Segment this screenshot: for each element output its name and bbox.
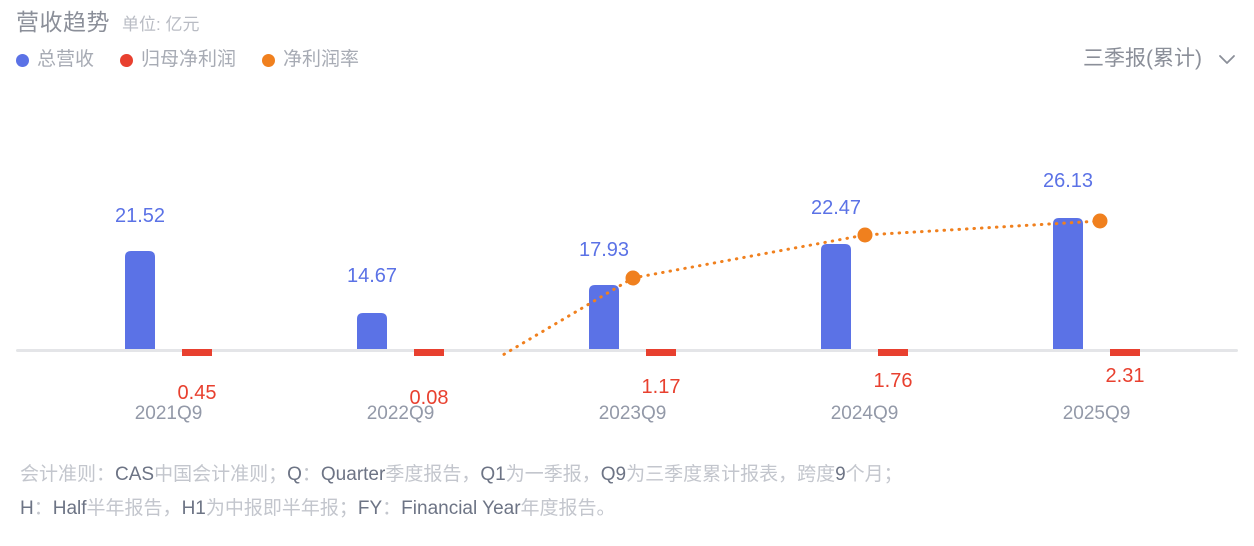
- footnote-text: 会计准则：: [20, 464, 115, 485]
- chart-plot-area: [0, 88, 1254, 356]
- footnote-line-2: H：Half半年报告，H1为中报即半年报；FY：Financial Year年度…: [20, 492, 1244, 526]
- footnote-text: 个月；: [846, 464, 903, 485]
- unit-label: 单位: 亿元: [122, 14, 199, 36]
- bar-net-profit[interactable]: [878, 349, 908, 356]
- bar-net-profit[interactable]: [414, 349, 444, 356]
- x-axis-tick-label: 2023Q9: [599, 402, 667, 426]
- legend-label: 归母净利润: [141, 48, 236, 72]
- x-axis-tick-label: 2025Q9: [1063, 402, 1131, 426]
- footnote-text: ：: [302, 464, 321, 485]
- bar-total-revenue[interactable]: [125, 251, 155, 349]
- footnote-line-1: 会计准则：CAS中国会计准则；Q：Quarter季度报告，Q1为一季报，Q9为三…: [20, 458, 1244, 492]
- footnote-text: 为中报即半年报；: [206, 498, 358, 519]
- legend-item-total-revenue[interactable]: 总营收: [16, 48, 94, 72]
- x-axis-tick-label: 2022Q9: [367, 402, 435, 426]
- legend-dot-icon: [120, 54, 133, 67]
- footnote-text: ：: [382, 498, 401, 519]
- footnote-term: Quarter: [321, 464, 385, 485]
- footnote-term: H1: [182, 498, 206, 519]
- chevron-down-icon: [1216, 48, 1238, 70]
- bar-total-revenue[interactable]: [1053, 218, 1083, 349]
- net-margin-point[interactable]: [626, 271, 641, 286]
- page-title: 营收趋势: [16, 8, 110, 36]
- footnote-text: 季度报告，: [385, 464, 480, 485]
- title-row: 营收趋势 单位: 亿元: [16, 8, 199, 36]
- net-margin-point[interactable]: [1093, 214, 1108, 229]
- value-label-total-revenue: 14.67: [347, 264, 397, 288]
- legend-item-net-margin[interactable]: 净利润率: [262, 48, 359, 72]
- net-margin-point[interactable]: [858, 228, 873, 243]
- footnote-term: CAS: [115, 464, 154, 485]
- period-selector-label: 三季报(累计): [1083, 46, 1202, 72]
- chart-canvas: [0, 88, 1254, 356]
- bar-net-profit[interactable]: [646, 349, 676, 356]
- value-label-net-profit: 2.31: [1106, 364, 1145, 388]
- footnote-text: 为三季度累计报表，跨度: [626, 464, 835, 485]
- x-axis-tick-label: 2024Q9: [831, 402, 899, 426]
- footnote-term: H: [20, 498, 34, 519]
- bar-total-revenue[interactable]: [357, 313, 387, 349]
- value-label-net-profit: 1.17: [642, 375, 681, 399]
- footnote-term: FY: [358, 498, 382, 519]
- bar-net-profit[interactable]: [1110, 349, 1140, 356]
- period-selector[interactable]: 三季报(累计): [1083, 46, 1238, 72]
- value-label-total-revenue: 22.47: [811, 196, 861, 220]
- chart-legend: 总营收 归母净利润 净利润率: [16, 48, 359, 72]
- chart-footnote: 会计准则：CAS中国会计准则；Q：Quarter季度报告，Q1为一季报，Q9为三…: [20, 458, 1244, 526]
- legend-dot-icon: [16, 54, 29, 67]
- footnote-term: Financial Year: [401, 498, 520, 519]
- net-margin-line: [170, 221, 1100, 356]
- footnote-text: 半年报告，: [87, 498, 182, 519]
- footnote-text: ：: [34, 498, 53, 519]
- legend-dot-icon: [262, 54, 275, 67]
- bar-total-revenue[interactable]: [589, 285, 619, 349]
- footnote-term: Half: [53, 498, 87, 519]
- x-axis-labels: 2021Q92022Q92023Q92024Q92025Q9: [0, 402, 1254, 432]
- bar-net-profit[interactable]: [182, 349, 212, 356]
- footnote-term: Q9: [601, 464, 626, 485]
- value-label-total-revenue: 17.93: [579, 238, 629, 262]
- legend-label: 净利润率: [283, 48, 359, 72]
- revenue-trend-chart-widget: 营收趋势 单位: 亿元 总营收 归母净利润 净利润率 三季报(累计): [0, 0, 1254, 546]
- footnote-text: 中国会计准则；: [154, 464, 287, 485]
- footnote-term: 9: [835, 464, 846, 485]
- value-label-net-profit: 1.76: [874, 369, 913, 393]
- footnote-term: Q1: [480, 464, 505, 485]
- footnote-text: 为一季报，: [506, 464, 601, 485]
- value-label-total-revenue: 21.52: [115, 204, 165, 228]
- x-axis-tick-label: 2021Q9: [135, 402, 203, 426]
- value-label-total-revenue: 26.13: [1043, 169, 1093, 193]
- footnote-term: Q: [287, 464, 302, 485]
- bar-total-revenue[interactable]: [821, 244, 851, 349]
- legend-label: 总营收: [37, 48, 94, 72]
- chart-header: 营收趋势 单位: 亿元 总营收 归母净利润 净利润率 三季报(累计): [0, 0, 1254, 88]
- footnote-text: 年度报告。: [521, 498, 616, 519]
- legend-item-net-profit[interactable]: 归母净利润: [120, 48, 236, 72]
